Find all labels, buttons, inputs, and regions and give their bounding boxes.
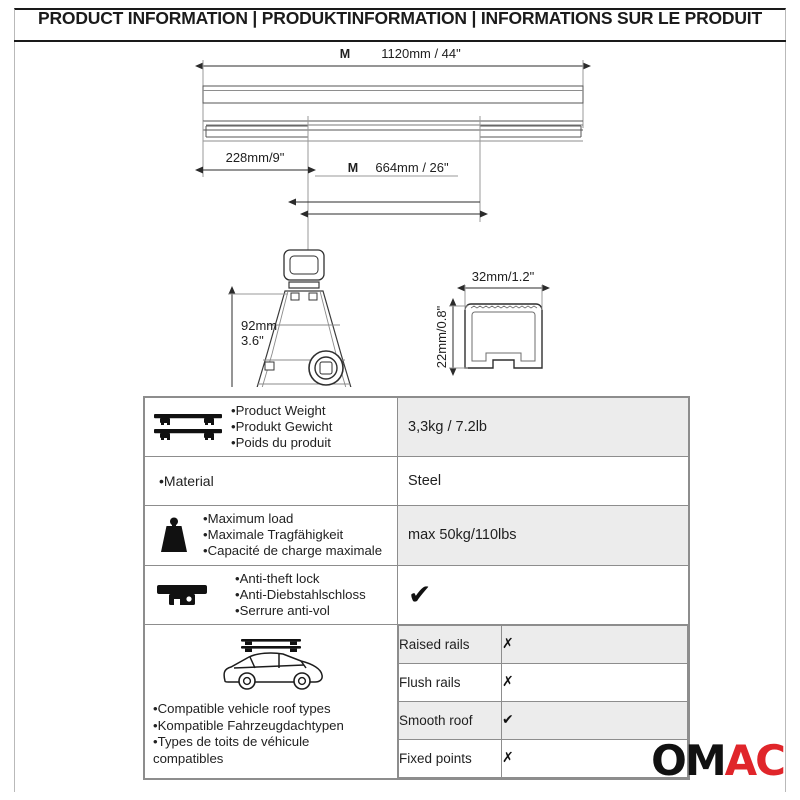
table-row: •Product Weight •Produkt Gewicht •Poids … bbox=[145, 398, 689, 457]
spec-label-line: •Kompatible Fahrzeugdachtypen bbox=[153, 718, 344, 735]
roof-type-mark: ✔ bbox=[502, 701, 688, 739]
foot-height-line1: 92mm bbox=[241, 318, 277, 333]
spec-label-cell-max-load: •Maximum load •Maximale Tragfähigkeit •C… bbox=[145, 506, 398, 565]
table-row: •Maximum load •Maximale Tragfähigkeit •C… bbox=[145, 506, 689, 565]
lock-checkmark-icon: ✔ bbox=[408, 578, 431, 611]
profile-width-value: 32mm/1.2" bbox=[472, 269, 535, 284]
spec-label-line: •Types de toits de véhicule bbox=[153, 734, 344, 751]
spec-label-line: •Poids du produit bbox=[231, 435, 332, 451]
roof-types-matrix: Raised rails ✗ Flush rails ✗ bbox=[398, 624, 689, 778]
roof-type-mark: ✗ bbox=[502, 663, 688, 701]
roof-type-name: Smooth roof bbox=[399, 701, 502, 739]
roof-type-name: Flush rails bbox=[399, 663, 502, 701]
roof-type-row: Smooth roof ✔ bbox=[399, 701, 688, 739]
roof-type-row: Raised rails ✗ bbox=[399, 625, 688, 663]
bar-length-marker: M bbox=[340, 47, 350, 61]
cross-icon: ✗ bbox=[502, 750, 514, 766]
roof-type-mark: ✗ bbox=[502, 625, 688, 663]
weight-icon bbox=[151, 515, 197, 555]
foot-spacing-value: 664mm / 26" bbox=[375, 160, 449, 175]
specification-table: •Product Weight •Produkt Gewicht •Poids … bbox=[143, 396, 690, 780]
table-row: •Compatible vehicle roof types •Kompatib… bbox=[145, 624, 689, 778]
omac-logo: OMAC bbox=[651, 740, 784, 782]
cross-icon: ✗ bbox=[502, 636, 514, 652]
spec-label-line: •Produkt Gewicht bbox=[231, 419, 332, 435]
spec-label-line: compatibles bbox=[153, 751, 344, 768]
spec-label-line: •Maximum load bbox=[203, 511, 382, 527]
spec-label-lock: •Anti-theft lock •Anti-Diebstahlschloss … bbox=[235, 571, 366, 619]
spec-label-cell-material: •Material bbox=[145, 457, 398, 506]
spec-label-line: •Anti-theft lock bbox=[235, 571, 366, 587]
spec-label-line: •Maximale Tragfähigkeit bbox=[203, 527, 382, 543]
roof-type-row: Fixed points ✗ bbox=[399, 739, 688, 777]
page-title: PRODUCT INFORMATION | PRODUKTINFORMATION… bbox=[38, 8, 762, 28]
spec-value-material: Steel bbox=[398, 457, 689, 506]
logo-text-dark: OM bbox=[651, 736, 725, 785]
table-row: •Material Steel bbox=[145, 457, 689, 506]
lock-icon bbox=[151, 578, 213, 612]
bar-length-value: 1120mm / 44" bbox=[381, 46, 461, 61]
roof-type-row: Flush rails ✗ bbox=[399, 663, 688, 701]
checkmark-icon: ✔ bbox=[502, 712, 514, 728]
spec-label-line: •Anti-Diebstahlschloss bbox=[235, 587, 366, 603]
foot-height-line2: 3.6" bbox=[241, 333, 264, 348]
spec-label-line: •Product Weight bbox=[231, 403, 332, 419]
spec-label-line: •Capacité de charge maximale bbox=[203, 543, 382, 559]
table-row: •Anti-theft lock •Anti-Diebstahlschloss … bbox=[145, 565, 689, 624]
profile-height-value: 22mm/0.8" bbox=[434, 305, 449, 368]
roof-type-name: Fixed points bbox=[399, 739, 502, 777]
foot-spacing-marker: M bbox=[348, 161, 358, 175]
spec-label-cell-weight: •Product Weight •Produkt Gewicht •Poids … bbox=[145, 398, 398, 457]
car-with-roof-bars-icon bbox=[151, 635, 393, 695]
cross-icon: ✗ bbox=[502, 674, 514, 690]
spec-label-roof-types: •Compatible vehicle roof types •Kompatib… bbox=[151, 701, 344, 767]
spec-value-max-load: max 50kg/110lbs bbox=[398, 506, 689, 565]
spec-label-weight: •Product Weight •Produkt Gewicht •Poids … bbox=[231, 403, 332, 451]
profile-section-drawing: 32mm/1.2" 22mm/0.8" bbox=[434, 269, 542, 368]
foot-detail-drawing: 92mm 3.6" 104mm / 4" bbox=[228, 250, 358, 387]
roof-type-name: Raised rails bbox=[399, 625, 502, 663]
technical-drawing: M 1120mm / 44" 228mm/9" M 664mm / 26" bbox=[0, 42, 800, 387]
logo-text-accent: AC bbox=[725, 736, 784, 785]
spec-label-line: •Compatible vehicle roof types bbox=[153, 701, 344, 718]
roof-bars-icon bbox=[151, 410, 225, 444]
end-offset-value: 228mm/9" bbox=[226, 150, 285, 165]
spec-label-line: •Serrure anti-vol bbox=[235, 603, 366, 619]
spec-value-lock: ✔ bbox=[398, 565, 689, 624]
title-bar: PRODUCT INFORMATION | PRODUKTINFORMATION… bbox=[0, 8, 800, 29]
spec-label-material: •Material bbox=[159, 473, 214, 490]
spec-label-max-load: •Maximum load •Maximale Tragfähigkeit •C… bbox=[203, 511, 382, 559]
spec-value-weight: 3,3kg / 7.2lb bbox=[398, 398, 689, 457]
spec-label-cell-lock: •Anti-theft lock •Anti-Diebstahlschloss … bbox=[145, 565, 398, 624]
spec-label-cell-roof-types: •Compatible vehicle roof types •Kompatib… bbox=[145, 624, 398, 778]
